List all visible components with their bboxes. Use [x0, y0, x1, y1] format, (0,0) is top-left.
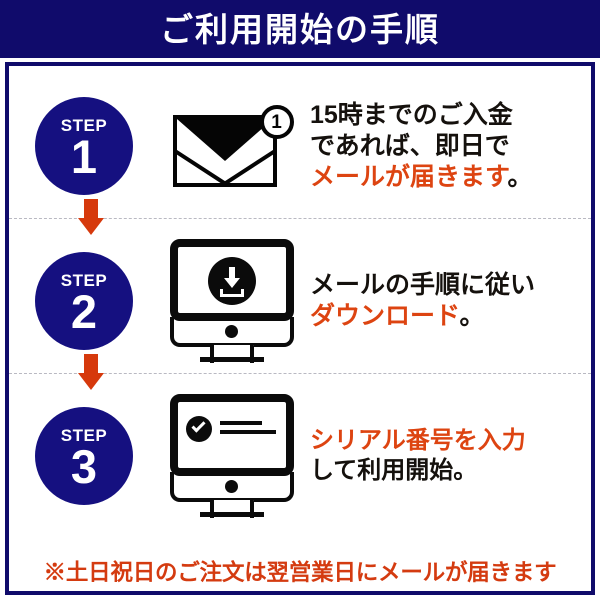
content-frame: STEP 1 1 15時までのご入金 — [5, 62, 595, 595]
text-line-graphic — [220, 421, 262, 425]
step-text-line: 15時までのご入金 — [310, 100, 585, 131]
step-number-1: 1 — [71, 135, 97, 178]
step-row-2: STEP 2 — [9, 229, 591, 373]
monitor-base — [200, 357, 264, 362]
step-icon-cell-3 — [159, 394, 304, 518]
step-text-line: メールが届きます。 — [310, 162, 585, 193]
step-text-line: シリアル番号を入力 — [310, 426, 585, 456]
content-inner: STEP 1 1 15時までのご入金 — [9, 66, 591, 591]
page-title: ご利用開始の手順 — [160, 13, 440, 46]
step-text-accent: ダウンロード — [310, 302, 460, 330]
envelope-with-badge-icon: 1 — [170, 99, 294, 193]
text-line-graphic — [220, 430, 276, 434]
step-badge-cell-2: STEP 2 — [9, 252, 159, 350]
step-text-accent: メールが届きます — [310, 163, 508, 191]
arrow-stem — [84, 199, 98, 219]
step-text-line: であれば、即日で — [310, 131, 585, 162]
step-text-line: して利用開始。 — [310, 456, 585, 486]
step-icon-cell-2 — [159, 239, 304, 363]
step-text-2: メールの手順に従い ダウンロード。 — [304, 270, 591, 332]
monitor-download-icon — [168, 239, 296, 363]
step-row-3: STEP 3 — [9, 384, 591, 528]
envelope-count-badge: 1 — [260, 105, 294, 139]
step-number-3: 3 — [71, 445, 97, 488]
arrow-stem — [84, 354, 98, 374]
footer-note: ※土日祝日のご注文は翌営業日にメールが届きます — [9, 555, 591, 587]
envelope-flap — [177, 119, 273, 161]
step-badge-cell-3: STEP 3 — [9, 407, 159, 505]
step-text-suffix: 。 — [460, 302, 485, 330]
step-icon-cell-1: 1 — [159, 99, 304, 193]
step-text-3: シリアル番号を入力 して利用開始。 — [304, 426, 591, 486]
step-number-2: 2 — [71, 290, 97, 333]
step-text-line: メールの手順に従い — [310, 270, 585, 301]
step-badge-3: STEP 3 — [35, 407, 133, 505]
header-banner: ご利用開始の手順 — [0, 0, 600, 58]
step-text-accent: シリアル番号を入力 — [310, 427, 526, 454]
step-text-line: ダウンロード。 — [310, 301, 585, 332]
step-badge-1: STEP 1 — [35, 97, 133, 195]
step-text-1: 15時までのご入金 であれば、即日で メールが届きます。 — [304, 100, 591, 193]
monitor-checkmark-icon — [168, 394, 296, 518]
download-arrow-head — [224, 278, 240, 288]
step-row-1: STEP 1 1 15時までのご入金 — [9, 74, 591, 218]
monitor-power-dot — [225, 325, 238, 338]
download-tray — [220, 289, 244, 297]
step-text-suffix: 。 — [508, 163, 533, 191]
monitor-base — [200, 512, 264, 517]
step-badge-cell-1: STEP 1 — [9, 97, 159, 195]
promo-steps-graphic: ご利用開始の手順 STEP 1 — [0, 0, 600, 600]
monitor-power-dot — [225, 480, 238, 493]
step-badge-2: STEP 2 — [35, 252, 133, 350]
